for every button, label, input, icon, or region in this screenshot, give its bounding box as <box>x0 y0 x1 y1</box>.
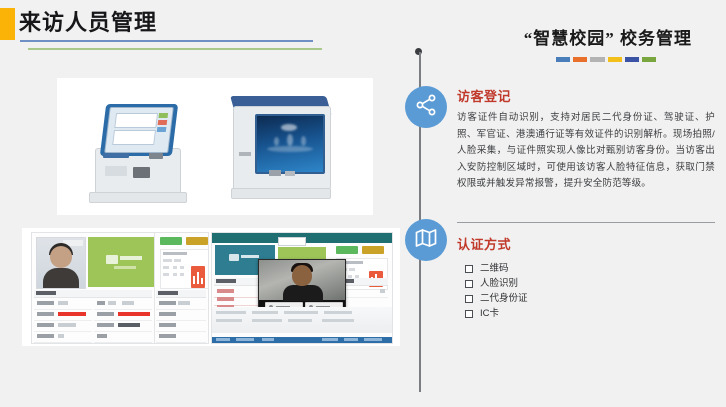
id-photo-thumbnail <box>36 237 86 289</box>
records-table <box>212 307 392 333</box>
visitor-registration-form-screenshot <box>31 232 209 344</box>
chart-icon <box>191 266 205 288</box>
dropdown-field[interactable] <box>278 237 306 246</box>
status-bar <box>212 337 392 343</box>
dash-3 <box>590 57 604 62</box>
software-screenshots <box>22 228 400 346</box>
list-item: 二维码 <box>465 261 715 276</box>
title-accent-bar <box>0 8 15 40</box>
title-rule-blue <box>20 40 313 42</box>
list-item-label: 二代身份证 <box>480 291 528 306</box>
slide-canvas: 来访人员管理 <box>0 0 726 407</box>
list-item: 人脸识别 <box>465 276 715 291</box>
share-network-icon <box>414 93 438 122</box>
right-header-title: “智慧校园” 校务管理 <box>524 24 692 49</box>
list-item-label: 人脸识别 <box>480 276 518 291</box>
stats-card <box>160 249 209 289</box>
checkbox-icon <box>465 295 473 303</box>
section-authentication-methods: 认证方式 二维码 人脸识别 二代身份证 IC卡 <box>457 234 715 321</box>
checkbox-icon <box>465 280 473 288</box>
checkbox-icon <box>465 310 473 318</box>
section-1-heading: 访客登记 <box>457 86 715 105</box>
section-visitor-registration: 访客登记 访客证件自动识别，支持对居民二代身份证、驾驶证、护照、军官证、港澳通行… <box>457 86 715 193</box>
title-rule-green <box>28 48 322 50</box>
dash-6 <box>642 57 656 62</box>
dash-1 <box>556 57 570 62</box>
secondary-button[interactable] <box>186 237 208 245</box>
section-divider <box>457 222 715 223</box>
list-item-label: 二维码 <box>480 261 509 276</box>
section-1-body: 访客证件自动识别，支持对居民二代身份证、驾驶证、护照、军官证、港澳通行证等有效证… <box>457 110 715 193</box>
timeline-node-visitor-registration[interactable] <box>405 86 447 128</box>
kiosk-photo <box>57 78 373 215</box>
list-item: IC卡 <box>465 306 715 321</box>
list-item: 二代身份证 <box>465 291 715 306</box>
map-icon <box>414 226 438 255</box>
dash-4 <box>608 57 622 62</box>
camera-preview <box>259 260 345 300</box>
authentication-method-list: 二维码 人脸识别 二代身份证 IC卡 <box>465 261 715 321</box>
dash-2 <box>573 57 587 62</box>
video-capture-area <box>88 237 154 287</box>
live-face-capture-screenshot <box>211 232 393 344</box>
header-dash-decoration <box>556 57 656 62</box>
checkbox-icon <box>465 265 473 273</box>
page-title: 来访人员管理 <box>19 5 157 37</box>
left-title-block: 来访人员管理 <box>0 7 380 59</box>
face-capture-dialog[interactable] <box>258 259 346 313</box>
dark-screen-kiosk-terminal <box>227 94 335 200</box>
list-item-label: IC卡 <box>480 306 499 321</box>
light-screen-kiosk-terminal <box>85 96 189 200</box>
timeline-node-authentication-methods[interactable] <box>405 219 447 261</box>
confirm-button[interactable] <box>160 237 182 245</box>
section-2-heading: 认证方式 <box>457 234 715 253</box>
dash-5 <box>625 57 639 62</box>
